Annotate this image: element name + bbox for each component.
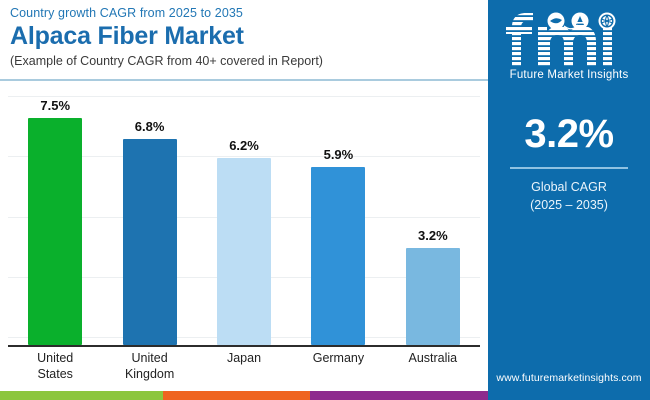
logo-badge-chart [572, 12, 589, 29]
bar-group[interactable]: 6.2% [197, 88, 291, 345]
bar-group[interactable]: 7.5% [8, 88, 102, 345]
header-divider [0, 79, 488, 81]
x-axis-label: UnitedStates [8, 350, 102, 382]
x-axis-label: UnitedKingdom [102, 350, 196, 382]
cagr-value: 3.2% [505, 112, 633, 156]
cagr-label-line1: Global CAGR [505, 178, 633, 196]
header: Country growth CAGR from 2025 to 2035 Al… [10, 6, 480, 68]
stripe-segment [0, 391, 163, 400]
logo-letter-m [538, 26, 596, 66]
cagr-divider [510, 167, 628, 169]
logo-letter-f [506, 13, 533, 66]
header-eyebrow: Country growth CAGR from 2025 to 2035 [10, 6, 480, 20]
bottom-color-stripe [0, 391, 488, 400]
bar-group[interactable]: 3.2% [386, 88, 480, 345]
infographic-page: Country growth CAGR from 2025 to 2035 Al… [0, 0, 650, 400]
header-subtitle: (Example of Country CAGR from 40+ covere… [10, 54, 480, 68]
logo-tagline: Future Market Insights [510, 69, 629, 81]
bar[interactable] [123, 139, 177, 345]
bar-value-label: 7.5% [40, 98, 70, 113]
bar[interactable] [406, 248, 460, 345]
bar-group[interactable]: 6.8% [102, 88, 196, 345]
bar-value-label: 6.8% [135, 119, 165, 134]
bar-value-label: 6.2% [229, 138, 259, 153]
x-axis-line [8, 345, 480, 347]
x-axis-label: Australia [386, 350, 480, 382]
logo-letter-i [603, 27, 612, 66]
chart-panel: Country growth CAGR from 2025 to 2035 Al… [0, 0, 488, 400]
logo-badge-globe-right [599, 12, 616, 29]
bar[interactable] [217, 158, 271, 345]
bar[interactable] [311, 167, 365, 345]
x-axis-label: Germany [291, 350, 385, 382]
website-url: www.futuremarketinsights.com [488, 372, 650, 384]
fmi-logo-mark [506, 12, 632, 68]
page-title: Alpaca Fiber Market [10, 22, 480, 51]
stripe-segment [163, 391, 310, 400]
brand-panel: Future Market Insights 3.2% Global CAGR … [488, 0, 650, 400]
global-cagr-kpi: 3.2% Global CAGR (2025 – 2035) [505, 112, 633, 214]
x-axis-labels: UnitedStatesUnitedKingdomJapanGermanyAus… [8, 350, 480, 382]
chart-bars: 7.5%6.8%6.2%5.9%3.2% [8, 88, 480, 345]
bar-group[interactable]: 5.9% [291, 88, 385, 345]
bar-chart: 7.5%6.8%6.2%5.9%3.2% [0, 88, 488, 346]
fmi-logo: Future Market Insights [494, 10, 644, 82]
bar-value-label: 3.2% [418, 228, 448, 243]
x-axis-label: Japan [197, 350, 291, 382]
stripe-segment [310, 391, 488, 400]
bar-value-label: 5.9% [324, 147, 354, 162]
logo-badge-globe-left [548, 12, 565, 29]
cagr-label-line2: (2025 – 2035) [505, 196, 633, 214]
bar[interactable] [28, 118, 82, 345]
